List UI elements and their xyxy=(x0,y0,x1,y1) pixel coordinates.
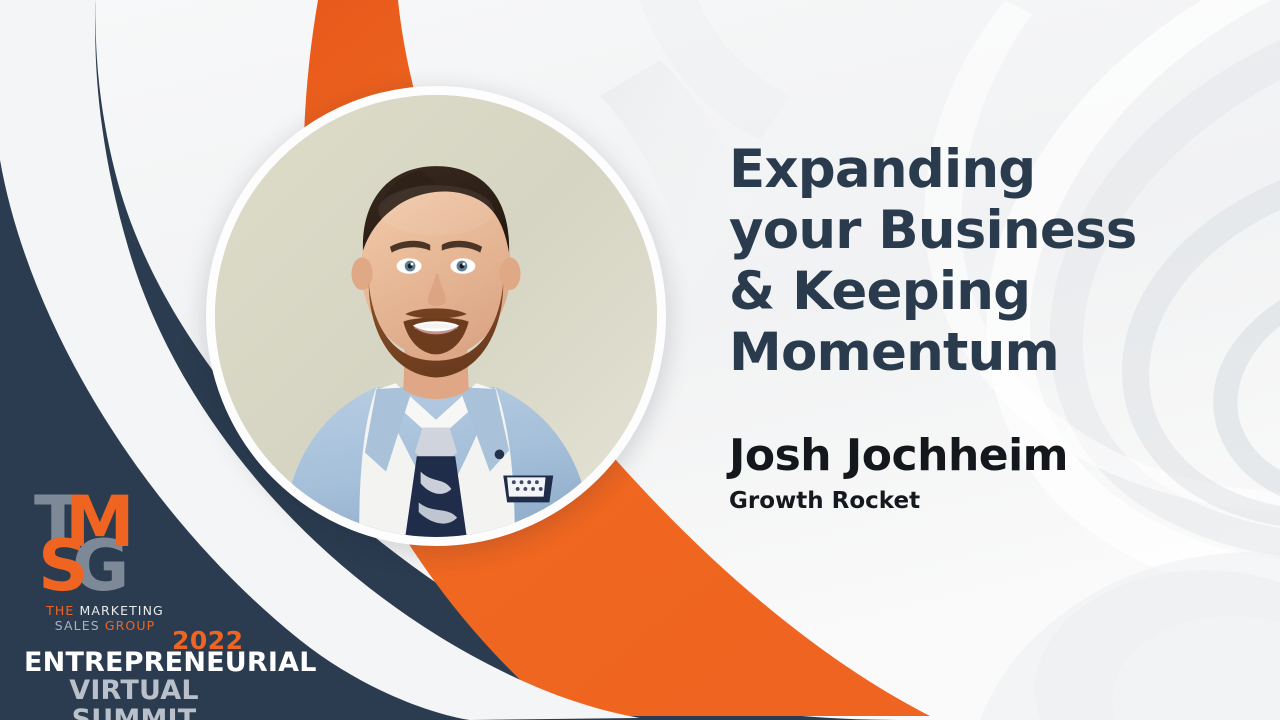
brand-tagline: THE MARKETING SALES GROUP xyxy=(30,603,180,633)
speaker-portrait xyxy=(206,86,666,546)
talk-title-block: Expanding your Business & Keeping Moment… xyxy=(729,139,1199,383)
speaker-company: Growth Rocket xyxy=(729,486,1199,516)
tagline-sales: SALES xyxy=(55,618,105,633)
page-title: Expanding your Business & Keeping Moment… xyxy=(729,139,1199,383)
logo-letter-s: S xyxy=(38,531,85,601)
speaker-photo xyxy=(215,95,657,537)
tagline-group: GROUP xyxy=(105,618,155,633)
speaker-name: Josh Jochheim xyxy=(729,430,1199,482)
speaker-block: Josh Jochheim Growth Rocket xyxy=(729,430,1199,516)
event-name-line-1: ENTREPRENEURIAL xyxy=(24,648,244,677)
tagline-line-2: SALES GROUP xyxy=(30,618,180,633)
slide-root: Expanding your Business & Keeping Moment… xyxy=(0,0,1280,720)
tmsg-logo: T M S G xyxy=(34,487,154,599)
brand-lockup: T M S G THE MARKETING SALES GROUP xyxy=(0,487,265,633)
event-name-line-2: VIRTUAL SUMMIT xyxy=(24,676,244,720)
